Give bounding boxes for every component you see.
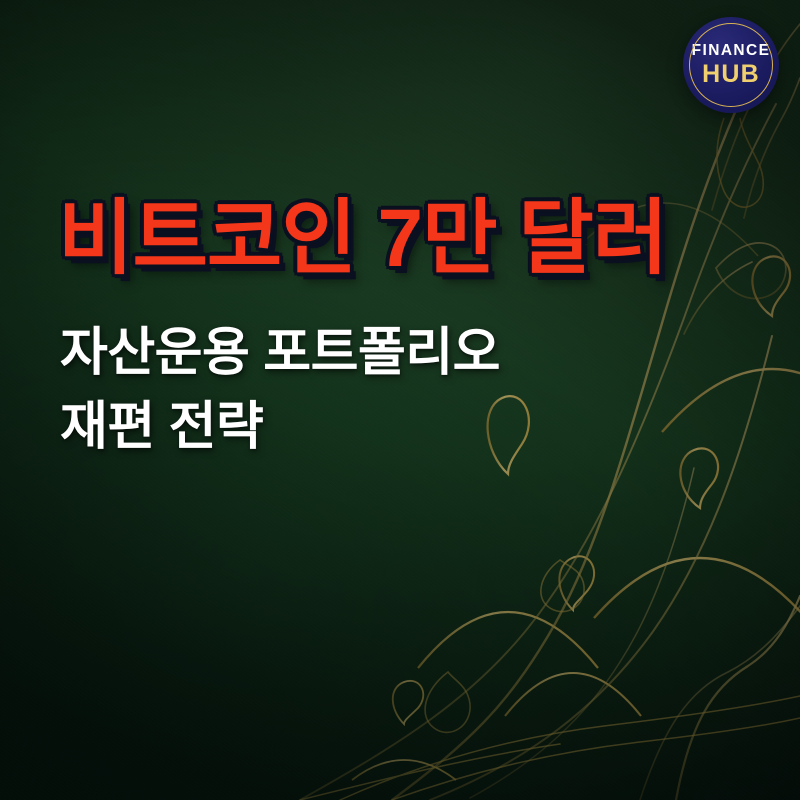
text-block: 비트코인 7만 달러 자산운용 포트폴리오 재편 전략 xyxy=(58,196,758,465)
subtitle-line-2: 재편 전략 xyxy=(60,391,758,465)
subtitle-line-1: 자산운용 포트폴리오 xyxy=(60,317,758,391)
social-card: FINANCE HUB 비트코인 7만 달러 자산운용 포트폴리오 재편 전략 xyxy=(0,0,800,800)
headline: 비트코인 7만 달러 xyxy=(58,196,758,283)
logo-text-hub: HUB xyxy=(702,62,760,87)
subtitle: 자산운용 포트폴리오 재편 전략 xyxy=(60,317,758,465)
logo-text-finance: FINANCE xyxy=(692,43,771,59)
finance-hub-logo[interactable]: FINANCE HUB xyxy=(683,17,779,113)
